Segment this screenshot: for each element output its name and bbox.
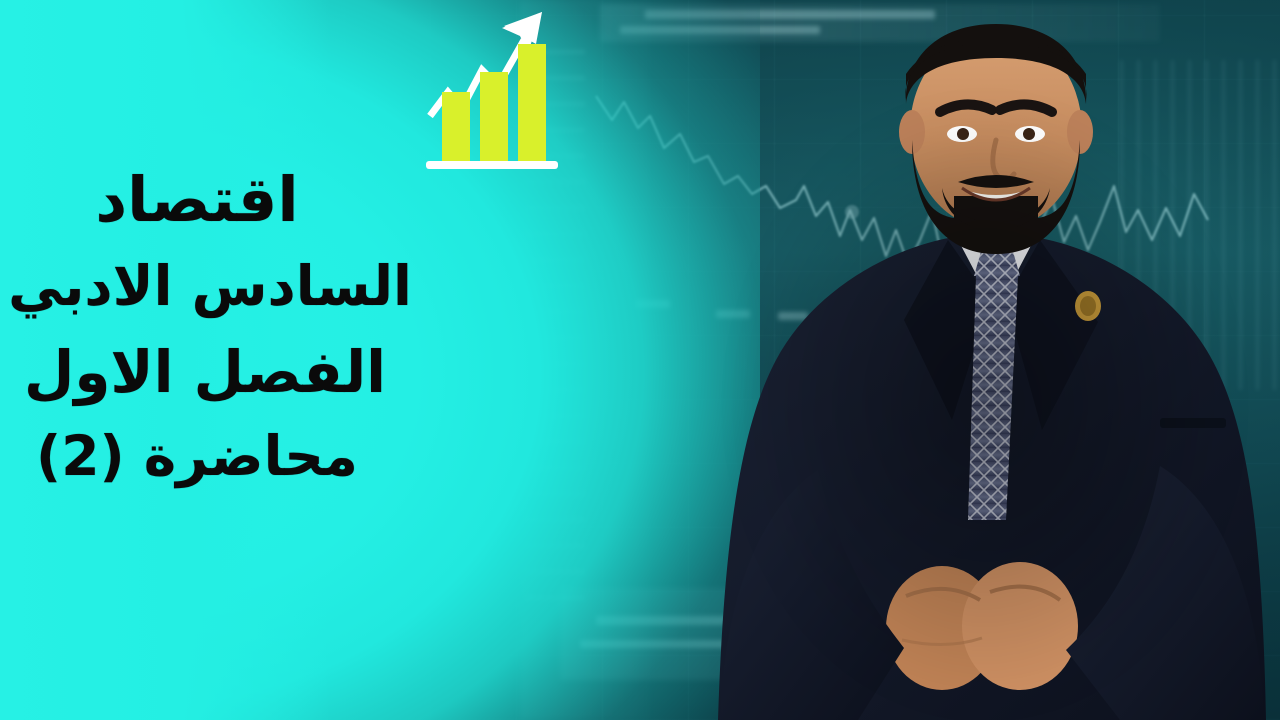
- title-line-subject: اقتصاد: [0, 168, 420, 232]
- growth-bar-3: [518, 44, 546, 162]
- growth-baseline: [426, 161, 558, 169]
- title-line-chapter: الفصل الاول: [0, 342, 420, 402]
- growth-bar-2: [480, 72, 508, 162]
- presenter-drop-shadow: [700, 20, 1270, 720]
- title-line-grade: السادس الادبي: [0, 258, 420, 315]
- thumbnail-canvas: اقتصاد السادس الادبي الفصل الاول محاضرة …: [0, 0, 1280, 720]
- title-block: اقتصاد السادس الادبي الفصل الاول محاضرة …: [0, 168, 420, 485]
- growth-bar-chart-icon: [424, 4, 564, 174]
- growth-bar-1: [442, 92, 470, 162]
- title-line-lecture: محاضرة (2): [0, 428, 420, 485]
- presenter-photo: [690, 0, 1280, 720]
